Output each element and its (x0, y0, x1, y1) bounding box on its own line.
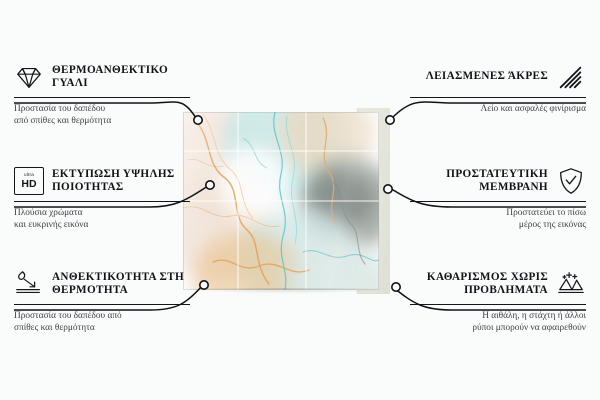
feature-title: ΠΡΟΣΤΑΤΕΥΤΙΚΗ ΜΕΜΒΡΑΝΗ (410, 168, 548, 195)
feature-heat-resistant-glass: ΘΕΡΜΟΑΝΘΕΚΤΙΚΟ ΓΥΑΛΙ Προστασία του δαπέδ… (14, 62, 190, 127)
feature-header: ΑΝΘΕΚΤΙΚΟΤΗΤΑ ΣΤΗ ΘΕΡΜΟΤΗΤΑ (14, 269, 190, 299)
feature-header: ultra HD ΕΚΤΥΠΩΣΗ ΥΨΗΛΗΣ ΠΟΙΟΤΗΤΑΣ (14, 166, 190, 196)
divider (410, 201, 586, 202)
diamond-icon (14, 62, 44, 92)
heat-resistance-icon (14, 269, 44, 299)
divider (14, 304, 190, 305)
product-image (183, 112, 379, 290)
glass-frame (183, 112, 379, 290)
feature-protective-membrane: ΠΡΟΣΤΑΤΕΥΤΙΚΗ ΜΕΜΒΡΑΝΗ Προστατεύει το πί… (410, 166, 586, 231)
feature-header: ΚΑΘΑΡΙΣΜΟΣ ΧΩΡΙΣ ΠΡΟΒΛΗΜΑΤΑ (410, 269, 586, 299)
feature-easy-cleaning: ΚΑΘΑΡΙΣΜΟΣ ΧΩΡΙΣ ΠΡΟΒΛΗΜΑΤΑ Η αιθάλη, η … (410, 269, 586, 334)
feature-title: ΘΕΡΜΟΑΝΘΕΚΤΙΚΟ ΓΥΑΛΙ (52, 64, 190, 91)
feature-description: Η αιθάλη, η στάχτη ή άλλοι ρύποι μπορούν… (410, 311, 586, 334)
feature-description: Λείο και ασφαλές φινίρισμα (410, 104, 586, 116)
feature-header: ΛΕΙΑΣΜΕΝΕΣ ΆΚΡΕΣ (410, 62, 586, 92)
infographic-stage: ΘΕΡΜΟΑΝΘΕΚΤΙΚΟ ΓΥΑΛΙ Προστασία του δαπέδ… (0, 0, 600, 400)
feature-high-quality-print: ultra HD ΕΚΤΥΠΩΣΗ ΥΨΗΛΗΣ ΠΟΙΟΤΗΤΑΣ Πλούσ… (14, 166, 190, 231)
feature-heat-durability: ΑΝΘΕΚΤΙΚΟΤΗΤΑ ΣΤΗ ΘΕΡΜΟΤΗΤΑ Προστασία το… (14, 269, 190, 334)
divider (410, 97, 586, 98)
divider (410, 304, 586, 305)
divider (14, 201, 190, 202)
product-shadow (183, 288, 391, 294)
feature-smooth-edges: ΛΕΙΑΣΜΕΝΕΣ ΆΚΡΕΣ Λείο και ασφαλές φινίρι… (410, 62, 586, 116)
ultra-hd-icon: ultra HD (14, 166, 44, 196)
feature-title: ΚΑΘΑΡΙΣΜΟΣ ΧΩΡΙΣ ΠΡΟΒΛΗΜΑΤΑ (410, 271, 548, 298)
feature-description: Πλούσια χρώματα και ευκρινής εικόνα (14, 208, 190, 231)
ultra-hd-bottom-label: HD (21, 179, 36, 190)
beveled-edge-icon (556, 62, 586, 92)
feature-header: ΠΡΟΣΤΑΤΕΥΤΙΚΗ ΜΕΜΒΡΑΝΗ (410, 166, 586, 196)
feature-description: Προστατεύει το πίσω μέρος της εικόνας (410, 208, 586, 231)
feature-title: ΛΕΙΑΣΜΕΝΕΣ ΆΚΡΕΣ (426, 70, 548, 83)
ultra-hd-top-label: ultra (24, 173, 34, 178)
feature-title: ΑΝΘΕΚΤΙΚΟΤΗΤΑ ΣΤΗ ΘΕΡΜΟΤΗΤΑ (52, 271, 190, 298)
feature-description: Προστασία του δαπέδου από σπίθες και θερ… (14, 104, 190, 127)
shield-check-icon (556, 166, 586, 196)
feature-title: ΕΚΤΥΠΩΣΗ ΥΨΗΛΗΣ ΠΟΙΟΤΗΤΑΣ (52, 168, 190, 195)
easy-clean-icon (556, 269, 586, 299)
feature-description: Προστασία του δαπέδου από σπίθες και θερ… (14, 311, 190, 334)
divider (14, 97, 190, 98)
feature-header: ΘΕΡΜΟΑΝΘΕΚΤΙΚΟ ΓΥΑΛΙ (14, 62, 190, 92)
